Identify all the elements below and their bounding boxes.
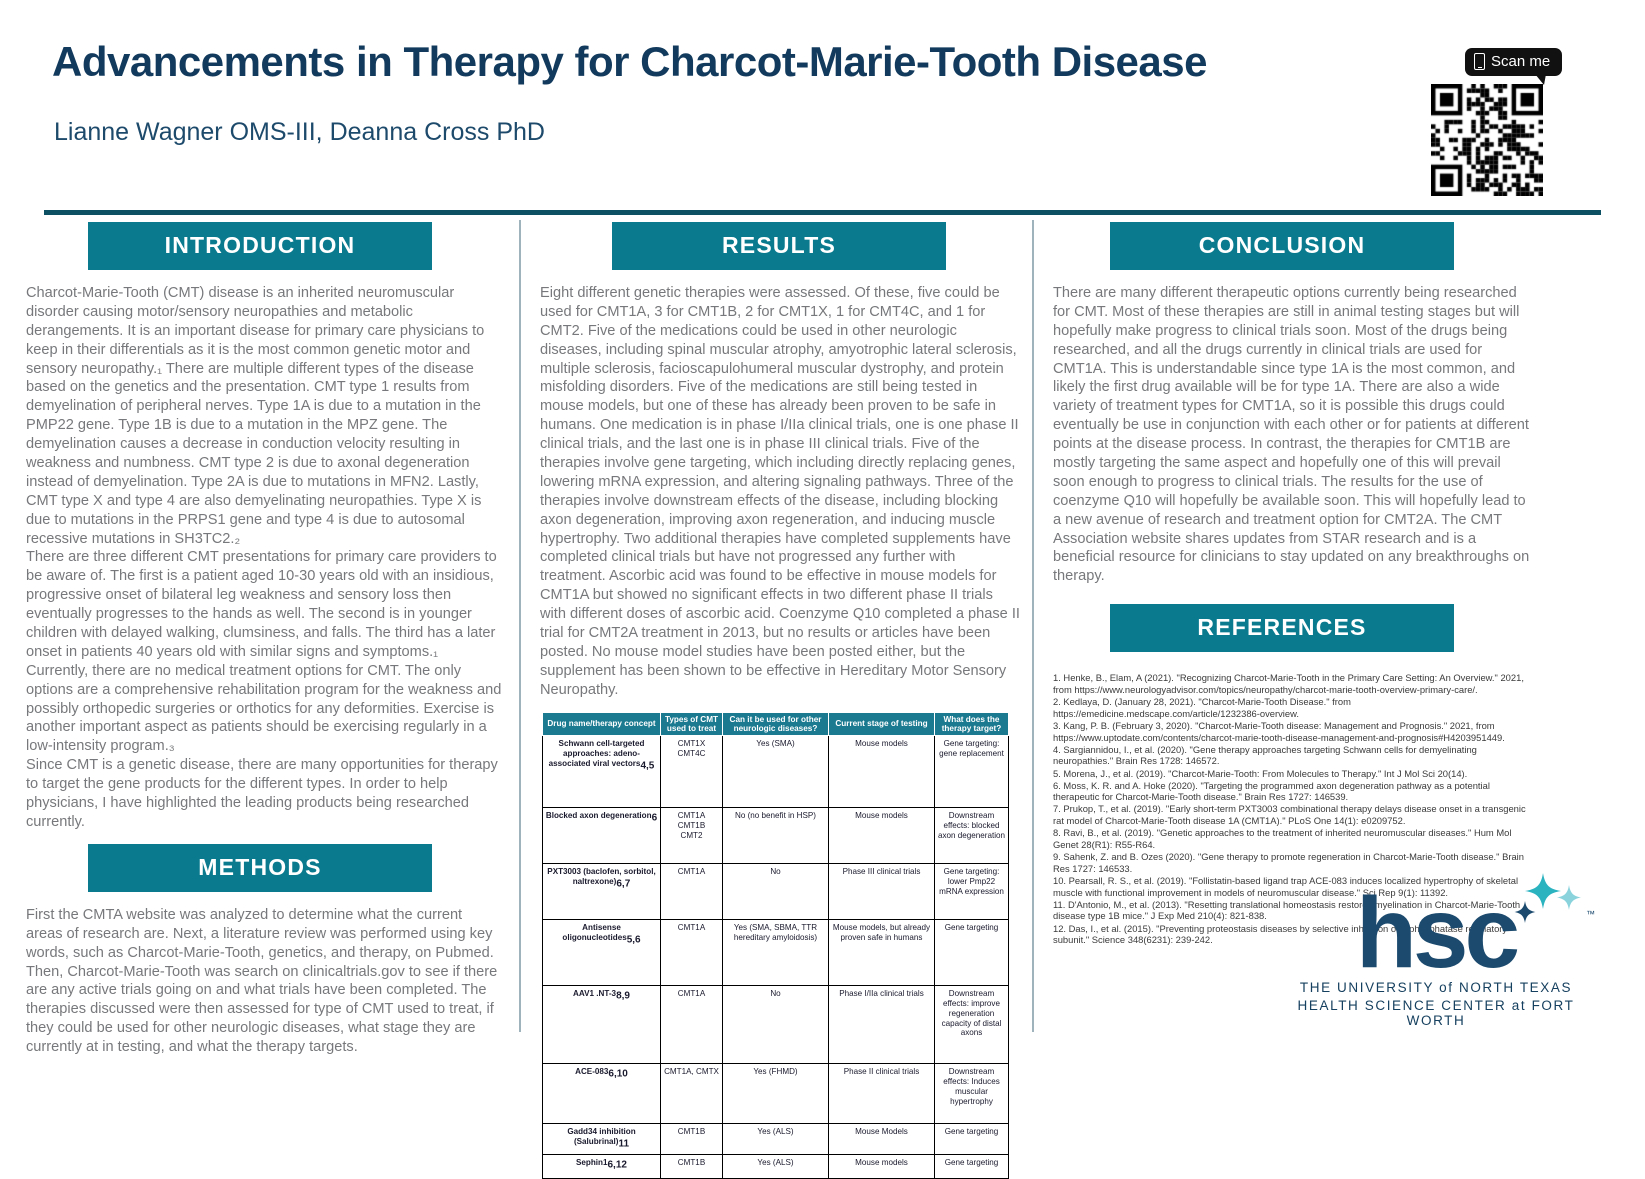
- table-cell-drug: Schwann cell-targeted approaches: adeno-…: [543, 736, 661, 808]
- table-cell-target: Gene targeting: gene replacement: [935, 736, 1009, 808]
- reference-item: 5. Morena, J., et al. (2019). "Charcot-M…: [1053, 768, 1534, 780]
- qr-code[interactable]: [1431, 84, 1543, 196]
- table-cell-target: Gene targeting: lower Pmp22 mRNA express…: [935, 864, 1009, 920]
- table-cell-other-diseases: Yes (FHMD): [723, 1064, 829, 1124]
- table-col-header-2: Types of CMT used to treat: [661, 712, 723, 736]
- table-cell-cmt-types: CMT1B: [661, 1154, 723, 1178]
- table-cell-cmt-types: CMT1A: [661, 864, 723, 920]
- table-cell-drug: Antisense oligonucleotides5,6: [543, 920, 661, 986]
- section-heading-methods: METHODS: [88, 844, 432, 892]
- table-cell-stage: Mouse models: [829, 1154, 935, 1178]
- table-cell-other-diseases: Yes (ALS): [723, 1154, 829, 1178]
- hsc-logo-line2: HEALTH SCIENCE CENTER at FORT WORTH: [1271, 998, 1601, 1028]
- results-text: Eight different genetic therapies were a…: [530, 284, 1024, 700]
- table-cell-cmt-types: CMT1B: [661, 1124, 723, 1154]
- results-table: Drug name/therapy conceptTypes of CMT us…: [542, 712, 1009, 1179]
- scan-me-block: Scan me: [1431, 48, 1561, 196]
- table-cell-drug: Blocked axon degeneration6: [543, 808, 661, 864]
- table-cell-cmt-types: CMT1A, CMTX: [661, 1064, 723, 1124]
- poster-header: Advancements in Therapy for Charcot-Mari…: [0, 0, 1645, 210]
- hsc-logo-mark: hsc ™: [1271, 869, 1601, 977]
- table-cell-stage: Mouse models: [829, 808, 935, 864]
- table-row: AAV1 .NT-38,9CMT1ANoPhase I/IIa clinical…: [543, 986, 1009, 1064]
- table-col-header-1: Drug name/therapy concept: [543, 712, 661, 736]
- table-cell-stage: Phase II clinical trials: [829, 1064, 935, 1124]
- table-cell-target: Downstream effects: blocked axon degener…: [935, 808, 1009, 864]
- table-row: ACE-0836,10CMT1A, CMTXYes (FHMD)Phase II…: [543, 1064, 1009, 1124]
- table-row: Schwann cell-targeted approaches: adeno-…: [543, 736, 1009, 808]
- phone-icon: [1474, 53, 1485, 70]
- table-cell-drug: Gadd34 inhibition (Salubrinal)11: [543, 1124, 661, 1154]
- reference-item: 8. Ravi, B., et al. (2019). "Genetic app…: [1053, 827, 1534, 850]
- table-cell-stage: Mouse models: [829, 736, 935, 808]
- table-row: Gadd34 inhibition (Salubrinal)11CMT1BYes…: [543, 1124, 1009, 1154]
- table-cell-cmt-types: CMT1A CMT1B CMT2: [661, 808, 723, 864]
- table-cell-target: Downstream effects: improve regeneration…: [935, 986, 1009, 1064]
- scan-me-label: Scan me: [1491, 53, 1550, 70]
- conclusion-text: There are many different therapeutic opt…: [1043, 284, 1538, 586]
- table-cell-other-diseases: No: [723, 986, 829, 1064]
- reference-item: 2. Kedlaya, D. (January 28, 2021). "Char…: [1053, 696, 1534, 719]
- table-row: Sephin16,12CMT1BYes (ALS)Mouse modelsGen…: [543, 1154, 1009, 1178]
- results-table-wrapper: Drug name/therapy conceptTypes of CMT us…: [530, 712, 1024, 1179]
- table-cell-other-diseases: Yes (SMA, SBMA, TTR hereditary amyloidos…: [723, 920, 829, 986]
- author-list: Lianne Wagner OMS-III, Deanna Cross PhD: [54, 118, 545, 147]
- table-row: Antisense oligonucleotides5,6CMT1AYes (S…: [543, 920, 1009, 986]
- reference-item: 4. Sargiannidou, I., et al. (2020). "Gen…: [1053, 744, 1534, 767]
- column-center: RESULTS Eight different genetic therapie…: [530, 222, 1024, 1179]
- table-cell-other-diseases: No: [723, 864, 829, 920]
- sparkle-icon: [1499, 871, 1585, 933]
- reference-item: 6. Moss, K. R. and A. Hoke (2020). "Targ…: [1053, 780, 1534, 803]
- section-heading-references: REFERENCES: [1110, 604, 1454, 652]
- table-cell-target: Gene targeting: [935, 1124, 1009, 1154]
- reference-item: 3. Kang, P. B. (February 3, 2020). "Char…: [1053, 720, 1534, 743]
- table-cell-drug: ACE-0836,10: [543, 1064, 661, 1124]
- introduction-text: Charcot-Marie-Tooth (CMT) disease is an …: [18, 284, 510, 832]
- methods-text: First the CMTA website was analyzed to d…: [18, 906, 510, 1057]
- table-cell-drug: PXT3003 (baclofen, sorbitol, naltrexone)…: [543, 864, 661, 920]
- table-header-row: Drug name/therapy conceptTypes of CMT us…: [543, 712, 1009, 736]
- table-cell-cmt-types: CMT1X CMT4C: [661, 736, 723, 808]
- table-cell-stage: Mouse models, but already proven safe in…: [829, 920, 935, 986]
- table-col-header-5: What does the therapy target?: [935, 712, 1009, 736]
- table-cell-stage: Mouse Models: [829, 1124, 935, 1154]
- table-cell-stage: Phase I/IIa clinical trials: [829, 986, 935, 1064]
- table-cell-other-diseases: Yes (ALS): [723, 1124, 829, 1154]
- table-cell-target: Gene targeting: [935, 920, 1009, 986]
- poster-root: Advancements in Therapy for Charcot-Mari…: [0, 0, 1645, 1054]
- column-divider-1: [519, 220, 521, 1032]
- table-col-header-4: Current stage of testing: [829, 712, 935, 736]
- reference-item: 7. Prukop, T., et al. (2019). "Early sho…: [1053, 803, 1534, 826]
- hsc-logo: hsc ™ THE UNIVERSITY of NORTH TEXAS HEAL…: [1271, 869, 1601, 1028]
- table-cell-stage: Phase III clinical trials: [829, 864, 935, 920]
- section-heading-introduction: INTRODUCTION: [88, 222, 432, 270]
- section-heading-results: RESULTS: [612, 222, 946, 270]
- table-cell-other-diseases: No (no benefit in HSP): [723, 808, 829, 864]
- scan-me-badge: Scan me: [1465, 48, 1562, 76]
- table-cell-target: Downstream effects: Induces muscular hyp…: [935, 1064, 1009, 1124]
- section-heading-conclusion: CONCLUSION: [1110, 222, 1454, 270]
- header-divider: [44, 210, 1601, 215]
- table-col-header-3: Can it be used for other neurologic dise…: [723, 712, 829, 736]
- reference-item: 1. Henke, B., Elam, A (2021). "Recognizi…: [1053, 672, 1534, 695]
- table-row: PXT3003 (baclofen, sorbitol, naltrexone)…: [543, 864, 1009, 920]
- table-cell-target: Gene targeting: [935, 1154, 1009, 1178]
- page-title: Advancements in Therapy for Charcot-Mari…: [52, 38, 1207, 86]
- trademark-symbol: ™: [1586, 909, 1595, 919]
- column-divider-2: [1032, 220, 1034, 1032]
- hsc-letters: hsc: [1356, 889, 1516, 977]
- column-right: CONCLUSION There are many different ther…: [1043, 222, 1538, 946]
- table-cell-other-diseases: Yes (SMA): [723, 736, 829, 808]
- table-cell-drug: Sephin16,12: [543, 1154, 661, 1178]
- column-left: INTRODUCTION Charcot-Marie-Tooth (CMT) d…: [18, 222, 510, 1057]
- table-cell-drug: AAV1 .NT-38,9: [543, 986, 661, 1064]
- table-cell-cmt-types: CMT1A: [661, 920, 723, 986]
- table-row: Blocked axon degeneration6CMT1A CMT1B CM…: [543, 808, 1009, 864]
- table-cell-cmt-types: CMT1A: [661, 986, 723, 1064]
